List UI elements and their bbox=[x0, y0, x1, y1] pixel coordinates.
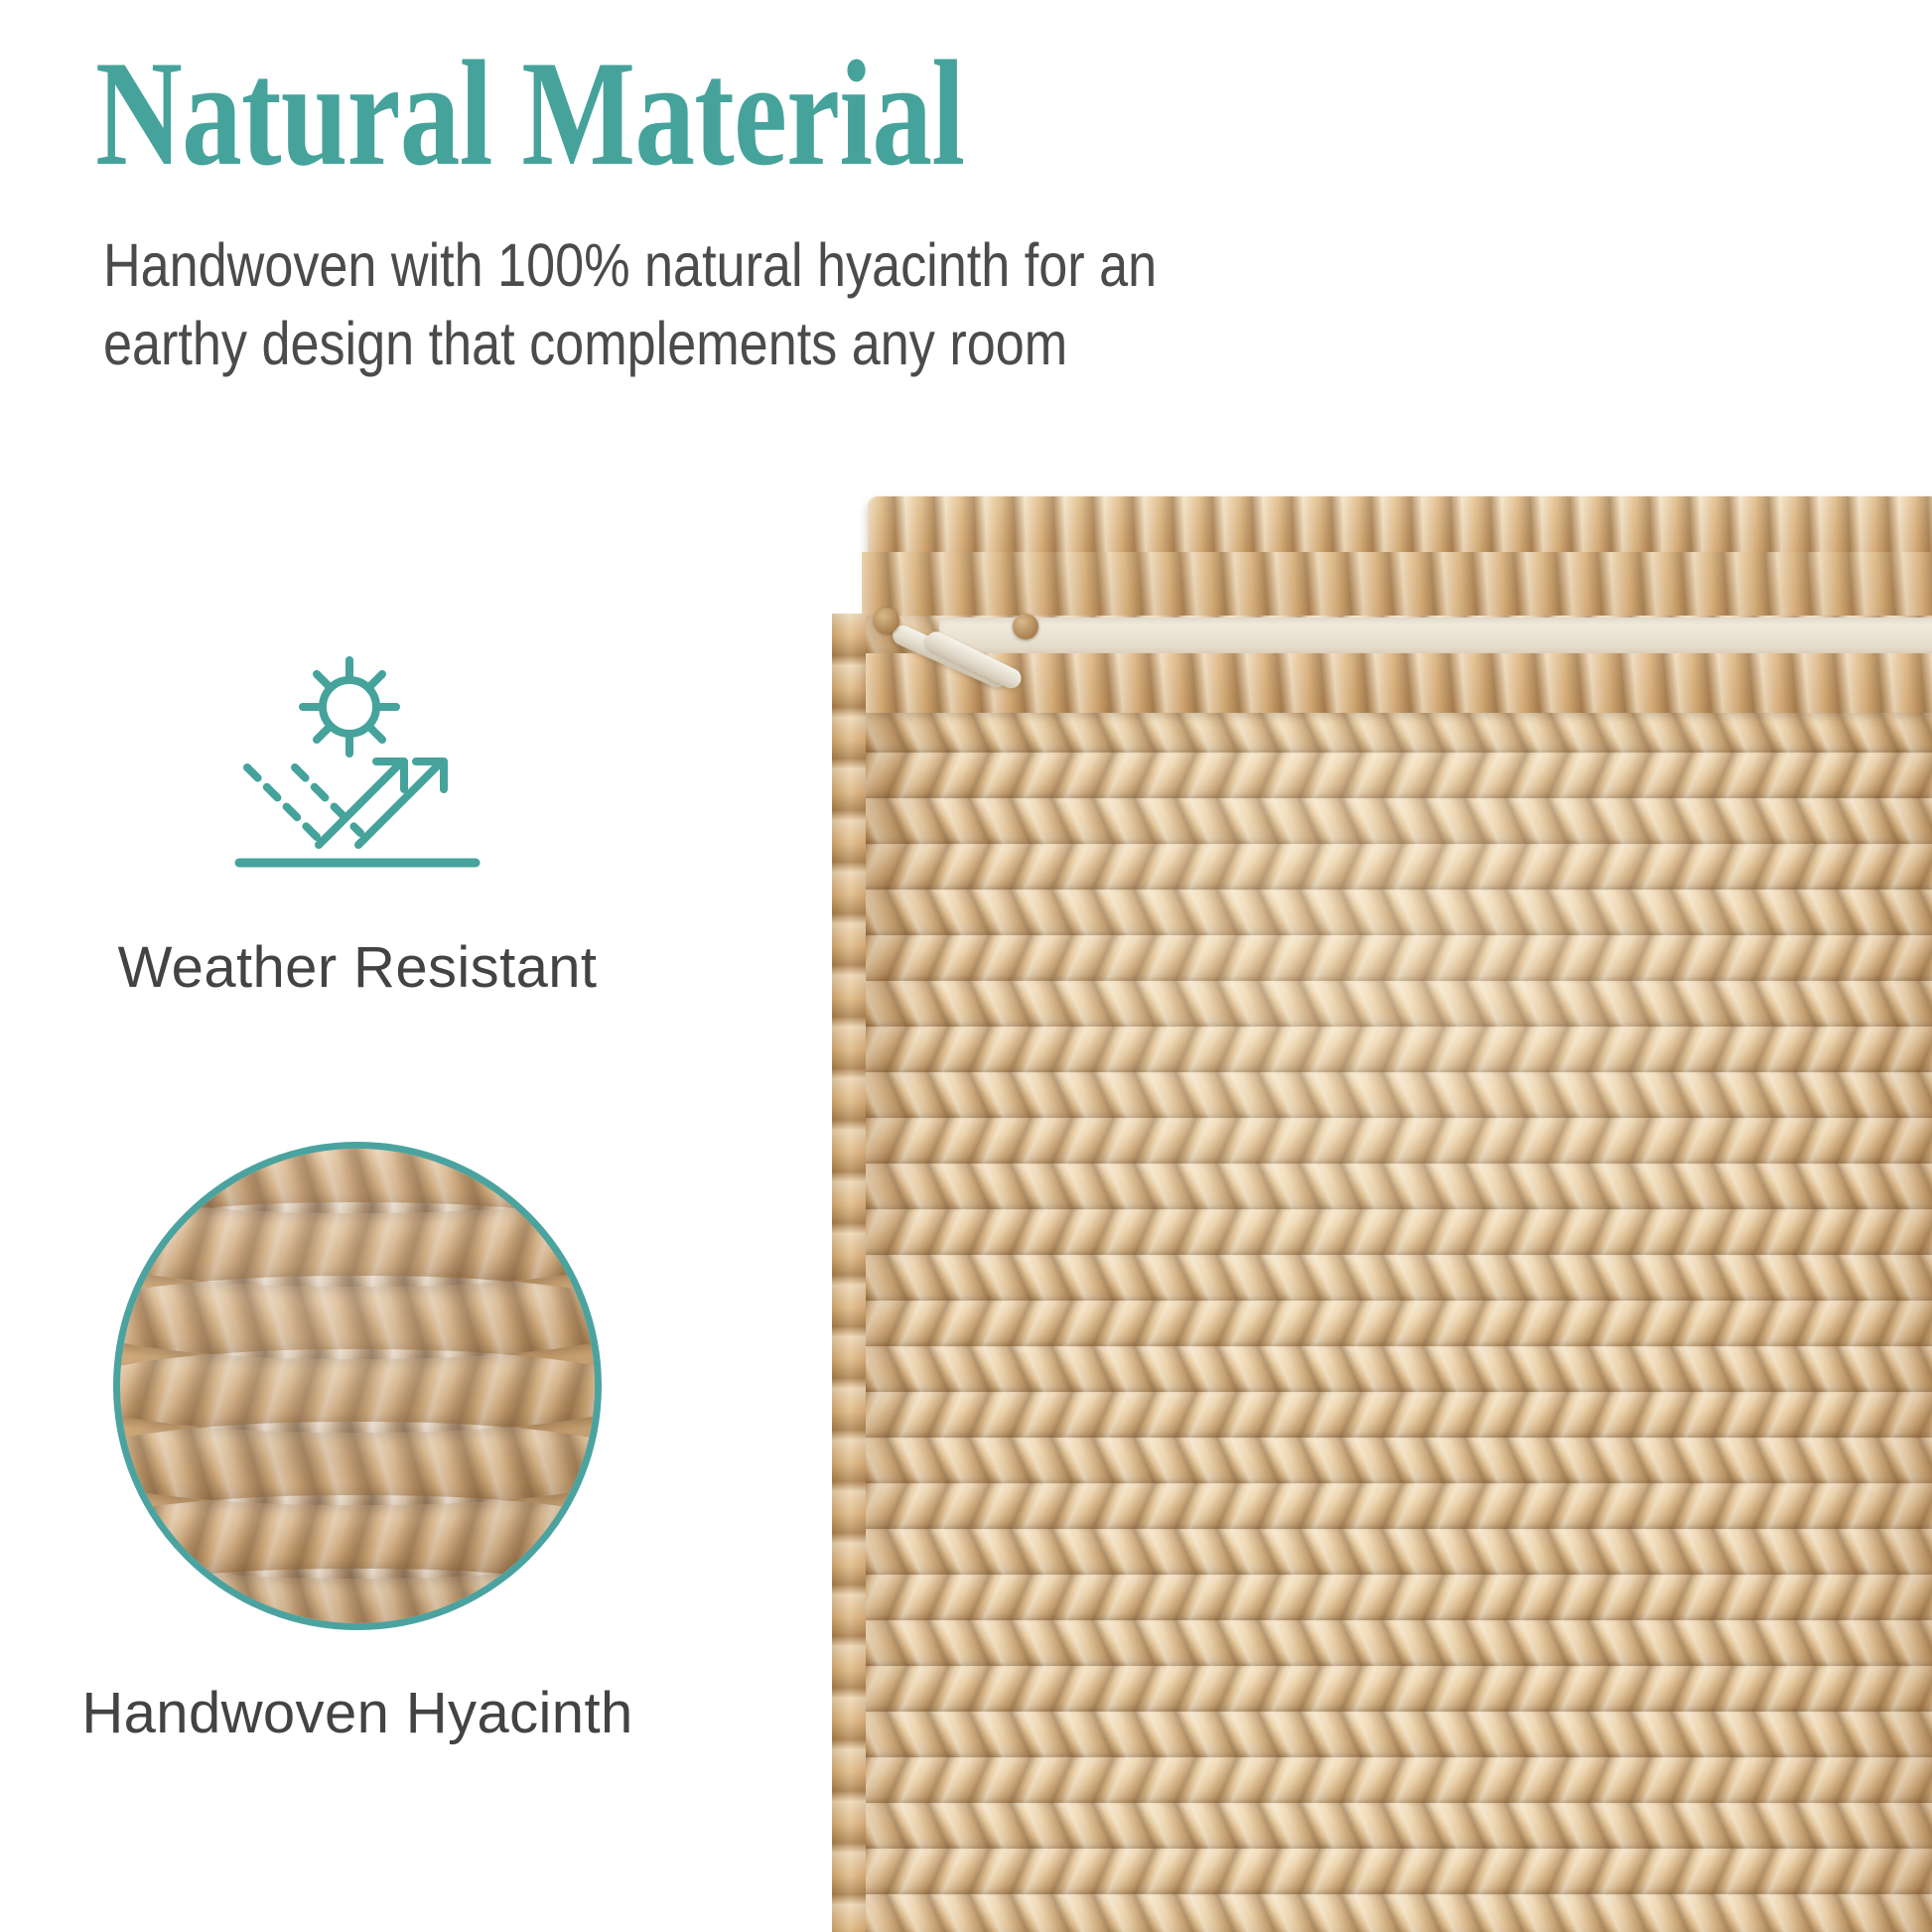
hamper-weave-row bbox=[832, 1209, 1932, 1255]
page-title: Natural Material bbox=[95, 38, 964, 189]
hamper-weave-row bbox=[832, 707, 1932, 753]
sun-reflected-rays-icon bbox=[233, 650, 482, 879]
hamper-weave-row bbox=[832, 890, 1932, 935]
hamper-weave-row bbox=[832, 1027, 1932, 1072]
product-feature-graphic: Natural Material Handwoven with 100% nat… bbox=[0, 0, 1932, 1932]
subtitle-line-1: Handwoven with 100% natural hyacinth for… bbox=[103, 226, 1359, 305]
hamper-weave-row bbox=[832, 1255, 1932, 1301]
hamper-weave-row bbox=[832, 1118, 1932, 1164]
hamper-weave-row bbox=[832, 1438, 1932, 1483]
page-subtitle: Handwoven with 100% natural hyacinth for… bbox=[103, 226, 1359, 384]
hamper-weave-row bbox=[832, 1849, 1932, 1894]
hamper-woven-body bbox=[832, 616, 1932, 1932]
hamper-weave-row bbox=[832, 844, 1932, 890]
product-image-alt-text: Handwoven water hyacinth laundry hamper … bbox=[832, 496, 833, 497]
hamper-corner-post bbox=[832, 614, 866, 1932]
hamper-weave-row bbox=[832, 981, 1932, 1027]
feature-label-weather-resistant: Weather Resistant bbox=[118, 934, 598, 1001]
hyacinth-closeup-circle bbox=[113, 1142, 602, 1630]
hamper-weave-row bbox=[832, 798, 1932, 844]
feature-weather-resistant: Weather Resistant bbox=[60, 650, 655, 1001]
hamper-weave-row bbox=[832, 1164, 1932, 1209]
hamper-weave-row bbox=[832, 1666, 1932, 1712]
hamper-rod-hinge-left bbox=[874, 608, 899, 633]
hamper-front-rim bbox=[866, 653, 1932, 713]
product-image-hamper: Handwoven water hyacinth laundry hamper … bbox=[832, 496, 1932, 1932]
circle-vignette bbox=[120, 1149, 595, 1623]
hyacinth-closeup-image bbox=[120, 1149, 595, 1623]
hamper-weave-row bbox=[832, 1712, 1932, 1757]
feature-label-handwoven-hyacinth: Handwoven Hyacinth bbox=[81, 1680, 632, 1746]
hamper-weave-row bbox=[832, 1757, 1932, 1803]
subtitle-line-2: earthy design that complements any room bbox=[103, 305, 1359, 383]
hamper-weave-row bbox=[832, 1894, 1932, 1932]
hamper-weave-row bbox=[832, 1301, 1932, 1346]
hamper-weave-row bbox=[832, 1072, 1932, 1118]
hamper-weave-row bbox=[832, 1803, 1932, 1849]
hamper-weave-row bbox=[832, 753, 1932, 798]
hamper-weave-row bbox=[832, 1483, 1932, 1529]
hamper-weave-row bbox=[832, 1392, 1932, 1438]
feature-handwoven-hyacinth: Handwoven Hyacinth bbox=[50, 1142, 665, 1746]
hamper-weave-row bbox=[832, 1346, 1932, 1392]
hamper-lid-band bbox=[862, 552, 1932, 616]
hamper-weave-row bbox=[832, 935, 1932, 981]
hamper-weave-row bbox=[832, 1575, 1932, 1620]
hamper-rod-hinge-right bbox=[1013, 614, 1038, 639]
hamper-weave-row bbox=[832, 1620, 1932, 1666]
hamper-weave-row bbox=[832, 1529, 1932, 1575]
